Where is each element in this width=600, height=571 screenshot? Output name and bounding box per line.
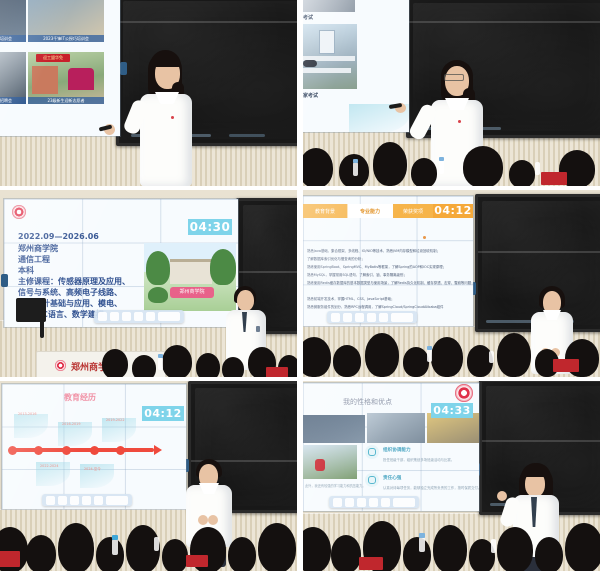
audience-4 xyxy=(0,509,297,571)
countdown-timer: 04:30 xyxy=(188,219,232,235)
classroom-scene-2: 子考试 国家考试 xyxy=(303,0,600,186)
pointer-icon[interactable] xyxy=(110,312,119,321)
slide-caption: 国家考试 xyxy=(303,92,318,99)
slide-page-indicator xyxy=(393,498,415,507)
highlighter-icon[interactable] xyxy=(357,498,366,507)
slide-text-line: 信号与系统、高频电子线路、 xyxy=(18,287,122,298)
ppt-presenter-toolbar[interactable] xyxy=(42,494,132,506)
slide-page-indicator xyxy=(158,312,180,321)
slide-photo-grid-1: 培训会 2023千锋IT公授巧培训会 招聘会 迎工盟华免 23级新生迎新志愿者 xyxy=(0,0,120,136)
bullet-title: 责任心强 xyxy=(383,475,401,481)
tab-professional-skills[interactable]: 专业能力 xyxy=(348,204,393,218)
slide-text-line: 2022.09—2026.06 xyxy=(18,232,99,241)
slide-photo-banner: 迎工盟华免 xyxy=(36,54,70,62)
audience-2 xyxy=(0,337,297,377)
pen-icon[interactable] xyxy=(46,496,55,505)
slide-photo-caption: 招聘会 xyxy=(0,97,26,104)
slide-photo xyxy=(303,0,355,12)
slide-text-line: 本科 xyxy=(18,265,34,276)
timeline-dot xyxy=(34,446,43,455)
slide-photo: 培训会 xyxy=(0,0,26,42)
slide-body-line: 熟悉前端开发技术，掌握HTML、CSS、JavaScript基础； xyxy=(307,296,394,301)
slide-footnote: 此外，我还有较强的学习能力和抗压能力。 xyxy=(305,483,366,488)
timeline-dot xyxy=(62,446,71,455)
slide-personality-strengths: 我的性格和优点 组织协调能力 担任班级干部，组织策划多场班级活动与比赛。 责任心… xyxy=(303,383,479,511)
presenter-badge xyxy=(171,116,174,119)
monitor-stand xyxy=(40,316,44,338)
presenter-hand xyxy=(497,491,507,501)
eraser-icon[interactable] xyxy=(134,312,143,321)
slide-photo xyxy=(303,415,365,443)
grid-icon[interactable] xyxy=(379,313,388,322)
collage-panel-4[interactable]: 教育背景 专业能力 荣获奖项 参与开发项目 04:12 熟悉Java基础，集合框… xyxy=(303,190,600,377)
pen-icon[interactable] xyxy=(333,498,342,507)
slide-photo xyxy=(367,413,425,443)
collage-panel-5[interactable]: 教育经历 2013-2016 2016-2019 2019-2022 2022-… xyxy=(0,381,297,571)
audience-1 xyxy=(303,138,600,186)
slide-photo: 2023千锋IT公授巧培训会 xyxy=(28,0,104,42)
collage-panel-3[interactable]: 2022.09—2026.06 郑州商学院 通信工程 本科 主修课程：传感器原理… xyxy=(0,190,297,377)
slide-campus-image: 郑州商学院 xyxy=(144,243,236,311)
eraser-icon[interactable] xyxy=(369,498,378,507)
classroom-scene-6: 我的性格和优点 组织协调能力 担任班级干部，组织策划多场班级活动与比赛。 责任心… xyxy=(303,381,600,571)
countdown-timer: 04:12 xyxy=(433,204,473,218)
slide-photo-caption: 2023千锋IT公授巧培训会 xyxy=(28,35,104,42)
bullet-desc: 认真对待每项任务，能够独立完成所负责的工作，按时保质交付。 xyxy=(383,485,479,490)
projection-screen: 教育经历 2013-2016 2016-2019 2019-2022 2022-… xyxy=(2,384,186,509)
timeline-period: 2024-至今 xyxy=(84,466,101,471)
grid-icon[interactable] xyxy=(381,498,390,507)
pointer-icon[interactable] xyxy=(343,313,352,322)
slide-photo-caption: 23级新生迎新志愿者 xyxy=(28,97,104,104)
slide-professional-skills: 教育背景 专业能力 荣获奖项 参与开发项目 04:12 熟悉Java基础，集合框… xyxy=(303,196,473,326)
classroom-scene-5: 教育经历 2013-2016 2016-2019 2019-2022 2022-… xyxy=(0,381,297,571)
bullet-title: 组织协调能力 xyxy=(383,447,411,453)
photo-collage: 培训会 2023千锋IT公授巧培训会 招聘会 迎工盟华免 23级新生迎新志愿者 xyxy=(0,0,600,571)
pen-icon[interactable] xyxy=(98,312,107,321)
timeline-period: 2019-2022 xyxy=(106,418,124,422)
pen-icon[interactable] xyxy=(331,313,340,322)
tab-awards[interactable]: 荣获奖项 xyxy=(393,204,434,218)
grid-icon[interactable] xyxy=(146,312,155,321)
glasses-icon xyxy=(444,74,464,81)
projection-screen: 教育背景 专业能力 荣获奖项 参与开发项目 04:12 熟悉Java基础，集合框… xyxy=(303,196,473,326)
slide-body-line: 熟练使用SpringBoot、SpringMVC、MyBatis等框架，了解Sp… xyxy=(307,264,446,269)
slide-body-line: 熟悉MySQL，掌握常用SQL语句，了解索引、锁、事务隔离级别； xyxy=(307,272,407,277)
collage-panel-1[interactable]: 培训会 2023千锋IT公授巧培训会 招聘会 迎工盟华免 23级新生迎新志愿者 xyxy=(0,0,297,186)
timeline-dot xyxy=(116,446,125,455)
slide-photo-list-2: 子考试 国家考试 xyxy=(303,0,409,132)
audience-3 xyxy=(303,323,600,377)
slide-text-line: 主修课程：传感器原理及应用、 xyxy=(18,276,130,287)
countdown-timer: 04:12 xyxy=(142,406,184,421)
ppt-presenter-toolbar[interactable] xyxy=(327,311,417,323)
classroom-scene-3: 2022.09—2026.06 郑州商学院 通信工程 本科 主修课程：传感器原理… xyxy=(0,190,297,377)
slide-education-timeline: 教育经历 2013-2016 2016-2019 2019-2022 2022-… xyxy=(2,384,186,509)
screen-sensor-icon xyxy=(1,274,8,287)
projection-screen: 培训会 2023千锋IT公授巧培训会 招聘会 迎工盟华免 23级新生迎新志愿者 xyxy=(0,0,120,136)
eraser-icon[interactable] xyxy=(82,496,91,505)
classroom-scene-4: 教育背景 专业能力 荣获奖项 参与开发项目 04:12 熟悉Java基础，集合框… xyxy=(303,190,600,377)
highlighter-icon[interactable] xyxy=(355,313,364,322)
slide-photo xyxy=(303,445,357,479)
slide-photo-caption: 培训会 xyxy=(0,35,26,42)
collage-panel-6[interactable]: 我的性格和优点 组织协调能力 担任班级干部，组织策划多场班级活动与比赛。 责任心… xyxy=(303,381,600,571)
school-crest-icon xyxy=(12,205,26,219)
slide-body-line: 熟悉Java基础，集合框架、多线程、IO/NIO等技术，熟悉JVM内存模型和垃圾… xyxy=(307,248,440,253)
slide-text-line: 郑州商学院 xyxy=(18,243,58,254)
eraser-icon[interactable] xyxy=(367,313,376,322)
presenter-badge xyxy=(256,326,260,332)
highlighter-icon[interactable] xyxy=(122,312,131,321)
audience-5 xyxy=(303,507,600,571)
presenter-head xyxy=(237,290,254,311)
school-crest-icon xyxy=(455,384,473,402)
timeline-period: 2016-2019 xyxy=(62,422,80,426)
bullet-desc: 担任班级干部，组织策划多场班级活动与比赛。 xyxy=(383,457,454,462)
slide-photo: 迎工盟华免 23级新生迎新志愿者 xyxy=(28,52,104,104)
slide-title: 教育经历 xyxy=(64,392,96,403)
timeline-arrow-icon xyxy=(154,445,162,455)
bullet-icon xyxy=(365,473,379,487)
highlighter-icon[interactable] xyxy=(70,496,79,505)
slide-photo: 招聘会 xyxy=(0,52,26,104)
slide-page-indicator xyxy=(106,496,128,505)
slide-caption: 子考试 xyxy=(303,14,313,21)
slide-body-line: 熟悉微服务组件的划分，熟悉RPC远程调用，了解SpringCloud/Sprin… xyxy=(307,304,443,309)
countdown-timer: 04:33 xyxy=(431,403,473,418)
collage-panel-2[interactable]: 子考试 国家考试 xyxy=(303,0,600,186)
slide-text-line: 通信工程 xyxy=(18,254,50,265)
slide-photo xyxy=(303,24,357,89)
projection-screen: 我的性格和优点 组织协调能力 担任班级干部，组织策划多场班级活动与比赛。 责任心… xyxy=(303,383,479,511)
tab-education-background[interactable]: 教育背景 xyxy=(303,204,348,218)
pointer-icon[interactable] xyxy=(345,498,354,507)
screen-sensor-icon xyxy=(120,62,127,75)
slide-title: 我的性格和优点 xyxy=(343,397,392,407)
slide-body-line: 熟练使用Redis缓存数据库的基本数据类型与使用场景，了解Redis持久化机制、… xyxy=(307,280,473,285)
timeline-period: 2022-2024 xyxy=(40,464,58,468)
projection-screen: 子考试 国家考试 xyxy=(303,0,409,132)
bullet-icon xyxy=(365,445,379,459)
presenter-badge xyxy=(458,120,461,123)
slide-body-line: 了解数据库索引优化与慢查询的分析； xyxy=(307,256,365,261)
classroom-scene-1: 培训会 2023千锋IT公授巧培训会 招聘会 迎工盟华免 23级新生迎新志愿者 xyxy=(0,0,297,186)
grid-icon[interactable] xyxy=(94,496,103,505)
campus-image-caption: 郑州商学院 xyxy=(170,287,214,298)
timeline-dot xyxy=(8,446,17,455)
timeline-dot xyxy=(90,446,99,455)
ppt-presenter-toolbar[interactable] xyxy=(94,310,184,323)
slide-page-indicator xyxy=(391,313,413,322)
timeline-period: 2013-2016 xyxy=(18,412,36,416)
pointer-icon[interactable] xyxy=(58,496,67,505)
